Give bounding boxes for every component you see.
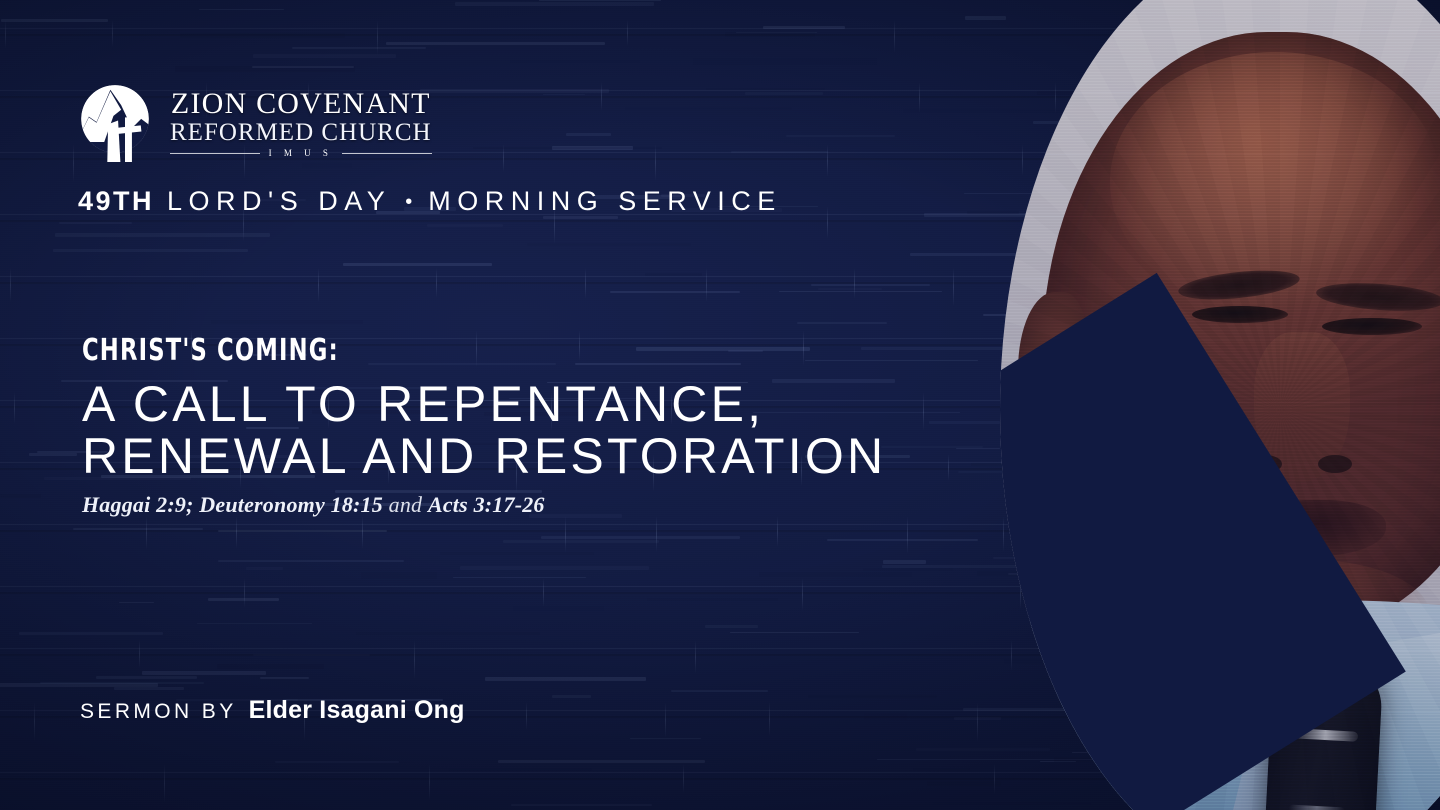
speaker-credit-prefix: SERMON BY — [80, 701, 237, 722]
scripture-reference: Haggai 2:9; Deuteronomy 18:15 and Acts 3… — [82, 492, 886, 518]
church-name-line2: REFORMED CHURCH — [170, 119, 432, 146]
service-name: MORNING SERVICE — [428, 188, 782, 215]
scripture-reference-conjunction: and — [383, 492, 428, 517]
church-logo: ZION COVENANT REFORMED CHURCH I M U S — [76, 82, 432, 162]
sermon-headline-line-1: A CALL TO REPENTANCE, — [82, 378, 886, 430]
speaker-name: Elder Isagani Ong — [249, 698, 465, 723]
speaker-portrait-oval — [1000, 0, 1440, 810]
church-locality: I M U S — [269, 149, 333, 158]
sermon-headline: A CALL TO REPENTANCE, RENEWAL AND RESTOR… — [82, 378, 886, 482]
scripture-reference-main: Haggai 2:9; Deuteronomy 18:15 — [82, 492, 383, 517]
church-locality-row: I M U S — [170, 149, 432, 158]
lords-day-label: LORD'S DAY — [167, 188, 391, 215]
speaker-credit: SERMON BY Elder Isagani Ong — [80, 698, 465, 723]
bullet-separator-icon: • — [405, 192, 412, 212]
lords-day-number: 49TH — [78, 188, 154, 215]
logo-rule-left — [170, 153, 260, 154]
mountain-cross-emblem-icon — [76, 82, 154, 162]
sermon-title-block: CHRIST'S COMING: A CALL TO REPENTANCE, R… — [82, 336, 886, 518]
church-name-line1: ZION COVENANT — [171, 89, 431, 119]
service-line: 49TH LORD'S DAY • MORNING SERVICE — [78, 188, 782, 215]
sermon-kicker: CHRIST'S COMING: — [82, 336, 758, 366]
logo-rule-right — [342, 153, 432, 154]
church-logo-wordmark: ZION COVENANT REFORMED CHURCH I M U S — [170, 87, 432, 158]
sermon-title-card: ZION COVENANT REFORMED CHURCH I M U S 49… — [0, 0, 1440, 810]
sermon-headline-line-2: RENEWAL AND RESTORATION — [82, 430, 886, 482]
scripture-reference-secondary: Acts 3:17-26 — [428, 492, 545, 517]
